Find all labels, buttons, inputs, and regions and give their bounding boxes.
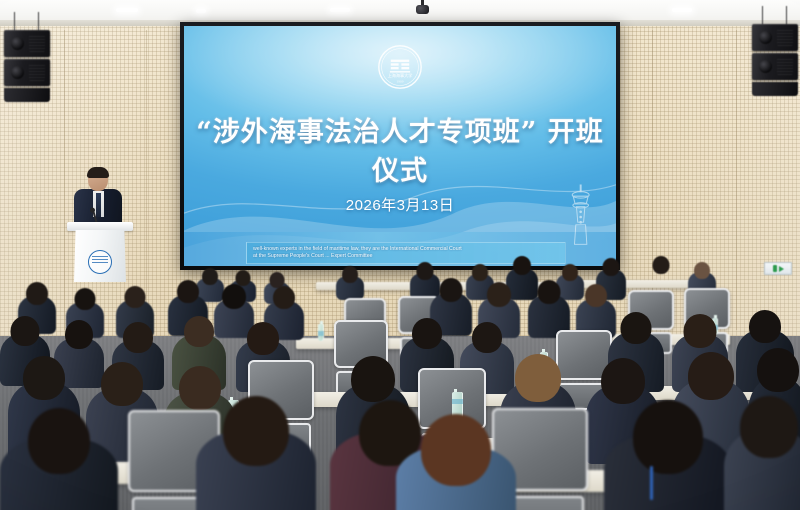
speaker-at-podium: [74, 168, 122, 230]
ceiling-camera-icon: [416, 0, 429, 15]
wall-seam: [736, 30, 737, 330]
ceiling-light: [196, 9, 206, 13]
water-bottle: [318, 324, 324, 341]
institution-seal: [88, 250, 112, 274]
conference-hall-photo: 上海海事大学 1909 “涉外海事法治人才专项班” 开班仪式 2026年3月13…: [0, 0, 800, 510]
screen-surface: 上海海事大学 1909 “涉外海事法治人才专项班” 开班仪式 2026年3月13…: [184, 26, 616, 266]
ceiling-light: [116, 8, 138, 12]
slide-date: 2026年3月13日: [184, 194, 616, 215]
wall-seam: [146, 30, 147, 330]
slide-title: “涉外海事法治人才专项班” 开班仪式: [184, 110, 616, 188]
exit-sign: [764, 262, 792, 275]
lanyard: [650, 466, 653, 500]
exit-person-icon: [773, 265, 777, 272]
attendee: [196, 396, 316, 510]
svg-text:1909: 1909: [397, 80, 404, 84]
left-line-array-speaker: [4, 30, 50, 102]
university-seal-emblem: 上海海事大学 1909: [377, 44, 423, 90]
slide-subtitle-line-1: well-known experts in the field of marit…: [253, 246, 559, 253]
ceiling-light: [672, 8, 692, 12]
svg-text:上海海事大学: 上海海事大学: [388, 72, 413, 78]
ceiling-light: [330, 8, 350, 12]
lighthouse-tower-icon: [568, 184, 594, 250]
attendee: [0, 408, 118, 510]
attendee: [396, 414, 516, 510]
attendee: [724, 396, 800, 510]
right-line-array-speaker: [752, 24, 798, 96]
exit-arrow-icon: [779, 266, 784, 272]
attendee: [604, 400, 732, 510]
wall-seam: [64, 30, 65, 330]
attendee: [336, 266, 364, 300]
presentation-screen: 上海海事大学 1909 “涉外海事法治人才专项班” 开班仪式 2026年3月13…: [180, 22, 620, 270]
lectern: [72, 222, 128, 282]
